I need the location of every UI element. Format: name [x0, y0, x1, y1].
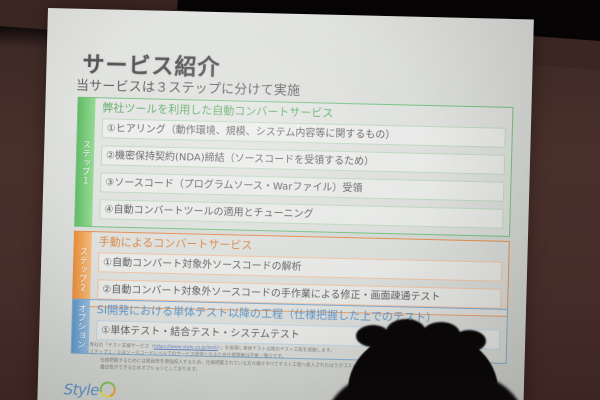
swirl-icon — [97, 379, 118, 400]
hair-tuft — [386, 319, 426, 345]
step-body-1: 弊社ツールを利用した自動コンバートサービス ①ヒアリング（動作環境、規模、システ… — [92, 98, 512, 236]
footnote-text: 優位性ができるためオプションとしております。 — [95, 365, 200, 372]
company-logo: Style — [63, 380, 116, 399]
chevron-down-icon — [296, 278, 304, 282]
photo-frame: サービス紹介 当サービスは３ステップに分けて実施 ステップ１ 弊社ツールを利用し… — [0, 0, 600, 400]
page-subtitle: 当サービスは３ステップに分けて実施 — [76, 75, 301, 99]
item-text: ①自動コンバート対象外ソースコードの解析 — [103, 257, 302, 273]
audience-silhouette — [348, 330, 498, 400]
step-tab-2: ステップ２ — [73, 232, 92, 306]
footnote-text: ・弊社の「テスト支援サービス（ — [85, 343, 154, 350]
item-text: ③ソースコード（プログラムソース・Warファイル）受領 — [105, 177, 362, 194]
item-text: ④自動コンバートツールの適用とチューニング — [104, 204, 313, 220]
list-item: ④自動コンバートツールの適用とチューニング — [99, 199, 503, 229]
chevron-down-icon — [299, 144, 307, 148]
projection-screen-wrap: サービス紹介 当サービスは３ステップに分けて実施 ステップ１ 弊社ツールを利用し… — [0, 0, 600, 400]
list-item: ②機密保持契約(NDA)締結（ソースコードを受領するため） — [101, 145, 505, 175]
chevron-down-icon — [299, 171, 307, 175]
footnote-link[interactable]: https://www.style.co.jp/test/ — [154, 345, 218, 352]
hair-tuft — [452, 330, 486, 352]
hair-tuft — [356, 325, 390, 347]
list-item: ③ソースコード（プログラムソース・Warファイル）受領 — [100, 172, 504, 202]
logo-text: Style — [63, 380, 99, 399]
chevron-down-icon — [298, 198, 306, 202]
item-text: ①ヒアリング（動作環境、規模、システム内容等に関するもの） — [107, 123, 396, 141]
item-text: ①単体テスト・結合テスト・システムテスト — [101, 325, 300, 341]
step-group-1: ステップ１ 弊社ツールを利用した自動コンバートサービス ①ヒアリング（動作環境、… — [74, 97, 513, 237]
item-text: ②機密保持契約(NDA)締結（ソースコードを受領するため） — [106, 150, 374, 167]
